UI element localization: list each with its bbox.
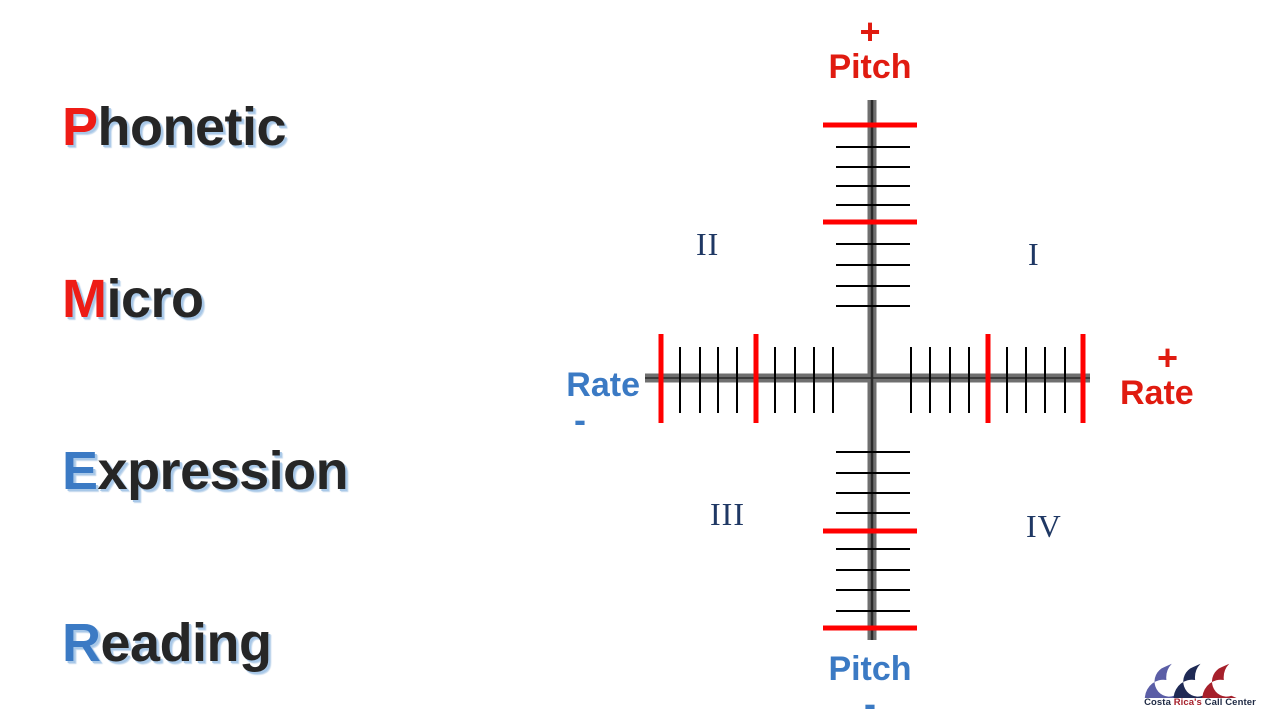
- axis-label-rate-negative: Rate -: [530, 368, 640, 438]
- axis-label-pitch-positive: + Pitch: [820, 14, 920, 84]
- logo-text-costa: Costa: [1144, 697, 1174, 708]
- costa-rica-call-center-logo: Costa Rica's Call Center: [1136, 660, 1264, 716]
- acronym-initial-r: R: [62, 613, 101, 673]
- quadrant-label-iv: IV: [1026, 508, 1062, 545]
- logo-text: Costa Rica's Call Center: [1136, 697, 1264, 708]
- acronym-item-micro: Micro: [62, 268, 204, 330]
- quadrant-label-iii: III: [710, 496, 745, 533]
- pitch-positive-sign: +: [820, 14, 920, 50]
- acronym-list: Phonetic Micro Expression Reading: [0, 0, 520, 720]
- axis-label-rate-positive: + Rate: [1120, 340, 1230, 410]
- acronym-rest-reading: eading: [101, 613, 272, 673]
- quadrant-label-i: I: [1028, 236, 1040, 273]
- axis-label-pitch-negative: Pitch -: [820, 652, 920, 722]
- axis-cross: [645, 100, 1090, 640]
- acronym-initial-p: P: [62, 97, 98, 157]
- acronym-item-expression: Expression: [62, 440, 348, 502]
- pitch-negative-sign: -: [820, 686, 920, 722]
- acronym-initial-m: M: [62, 269, 106, 329]
- rate-positive-text: Rate: [1120, 374, 1194, 412]
- pitch-rate-chart: + Pitch Pitch - + Rate Rate - II I III I…: [520, 0, 1280, 720]
- acronym-rest-micro: icro: [106, 269, 203, 329]
- quadrant-label-ii: II: [696, 226, 719, 263]
- acronym-rest-phonetic: honetic: [98, 97, 287, 157]
- acronym-item-phonetic: Phonetic: [62, 96, 286, 158]
- logo-mark-icon: [1140, 660, 1260, 698]
- acronym-rest-expression: xpression: [98, 441, 349, 501]
- acronym-initial-e: E: [62, 441, 98, 501]
- acronym-item-reading: Reading: [62, 612, 272, 674]
- rate-negative-sign: -: [530, 402, 630, 438]
- logo-text-callcenter: Call Center: [1202, 697, 1256, 708]
- rate-positive-sign: +: [1120, 340, 1215, 376]
- logo-text-rica: Rica's: [1174, 697, 1202, 708]
- pitch-positive-text: Pitch: [828, 48, 911, 86]
